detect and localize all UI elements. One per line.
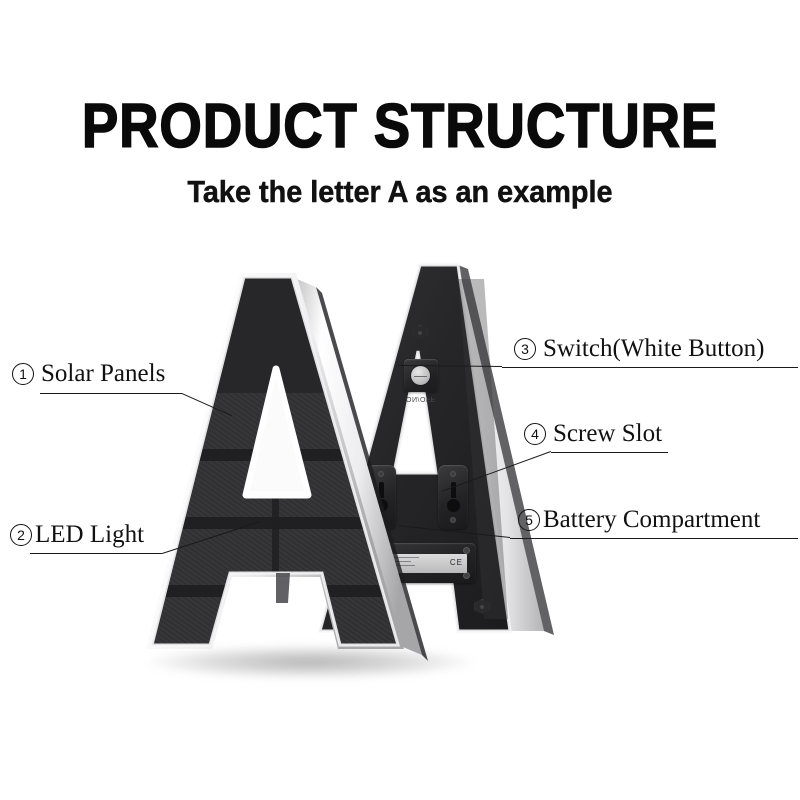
product-illustration: ON/OFF xyxy=(120,255,570,675)
callout-label-switch: Switch(White Button) xyxy=(536,335,765,362)
callout-4-underline xyxy=(551,452,668,453)
letter-a-front-view xyxy=(126,273,446,673)
callout-3-underline xyxy=(502,367,798,368)
slot-screw-icon xyxy=(450,517,456,523)
callout-label-solar-panels: Solar Panels xyxy=(34,360,165,387)
callout-number-4: 4 xyxy=(524,423,546,445)
callout-led-light: 2 LED Light xyxy=(10,521,144,548)
callout-number-5: 5 xyxy=(518,509,540,531)
callout-number-3: 3 xyxy=(514,338,536,360)
callout-label-led-light: LED Light xyxy=(32,521,144,548)
battery-screw-icon xyxy=(463,572,470,579)
page-title: PRODUCT STRUCTURE xyxy=(48,96,752,158)
callout-number-1: 1 xyxy=(12,363,34,385)
product-structure-infographic: PRODUCT STRUCTURE Take the letter A as a… xyxy=(0,0,800,800)
battery-screw-icon xyxy=(463,547,470,554)
callout-solar-panels: 1 Solar Panels xyxy=(12,360,165,387)
callout-switch: 3 Switch(White Button) xyxy=(514,335,765,362)
callout-number-2: 2 xyxy=(10,524,32,546)
callout-battery-compartment: 5 Battery Compartment xyxy=(518,506,760,533)
callout-5-underline xyxy=(510,538,798,539)
callout-1-underline xyxy=(40,393,182,394)
callout-2-underline xyxy=(30,553,162,554)
certification-marks: CE xyxy=(450,558,463,568)
callout-label-screw-slot: Screw Slot xyxy=(546,420,662,447)
callout-label-battery-compartment: Battery Compartment xyxy=(540,506,760,533)
callout-screw-slot: 4 Screw Slot xyxy=(524,420,662,447)
page-subtitle: Take the letter A as an example xyxy=(28,175,772,209)
slot-screw-icon xyxy=(450,471,456,477)
